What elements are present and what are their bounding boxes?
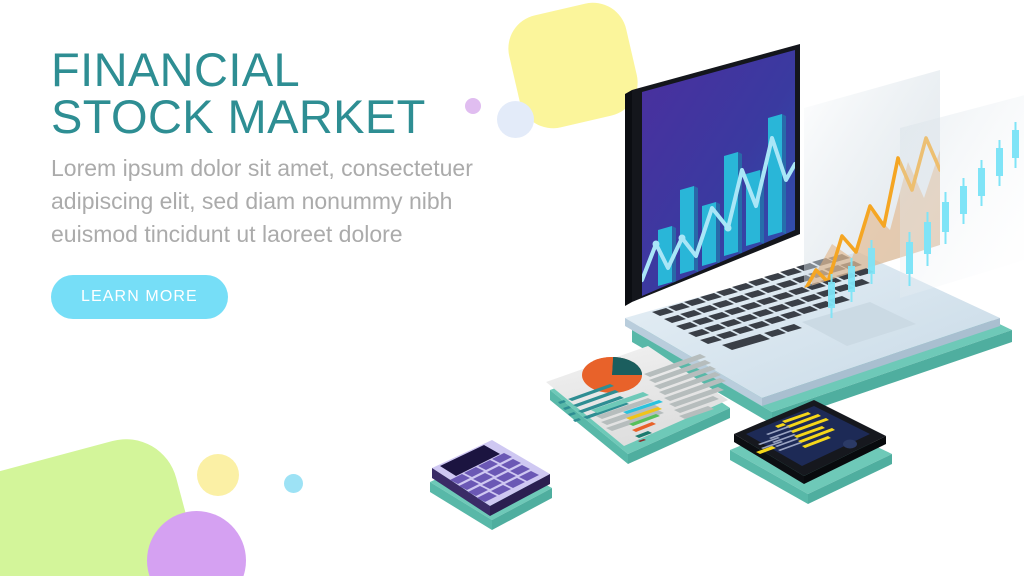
laptop-lid-edge xyxy=(625,90,632,306)
calculator-device xyxy=(430,440,552,530)
pie-chart xyxy=(582,357,642,393)
trend-point xyxy=(679,235,686,242)
paper-report xyxy=(546,346,730,464)
holo-candlestick-panel xyxy=(900,95,1024,298)
cyan-dot-decoration xyxy=(284,474,303,493)
phone-home-button[interactable] xyxy=(843,440,857,449)
hero-banner: FINANCIAL STOCK MARKET Lorem ipsum dolor… xyxy=(0,0,1024,576)
trend-point xyxy=(725,225,732,232)
smartphone-device xyxy=(730,400,892,504)
learn-more-button[interactable]: LEARN MORE xyxy=(51,275,228,319)
yellow-circle-decoration xyxy=(197,454,239,496)
isometric-illustration xyxy=(400,30,1024,560)
trend-point xyxy=(653,241,660,248)
